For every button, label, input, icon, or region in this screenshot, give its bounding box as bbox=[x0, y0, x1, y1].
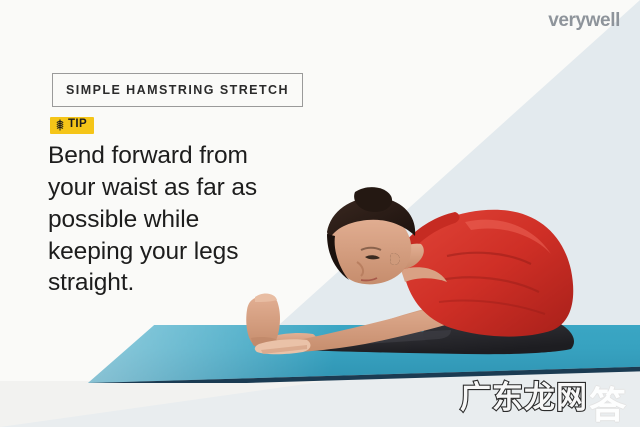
wheat-icon bbox=[55, 119, 65, 131]
tip-badge: TIP bbox=[50, 117, 94, 134]
watermark-ghost: 答 bbox=[589, 387, 628, 424]
exercise-name-text: SIMPLE HAMSTRING STRETCH bbox=[66, 83, 289, 97]
tip-headline: Bend forward from your waist as far as p… bbox=[48, 140, 280, 299]
ear-shape bbox=[390, 253, 400, 265]
brand-logo: verywell bbox=[548, 10, 620, 32]
tip-badge-label: TIP bbox=[68, 119, 87, 131]
image-canvas: SIMPLE HAMSTRING STRETCH TIP Bend forwar… bbox=[0, 0, 640, 427]
watermark-main: 广东龙网 bbox=[460, 382, 588, 413]
exercise-name-box: SIMPLE HAMSTRING STRETCH bbox=[52, 73, 303, 107]
